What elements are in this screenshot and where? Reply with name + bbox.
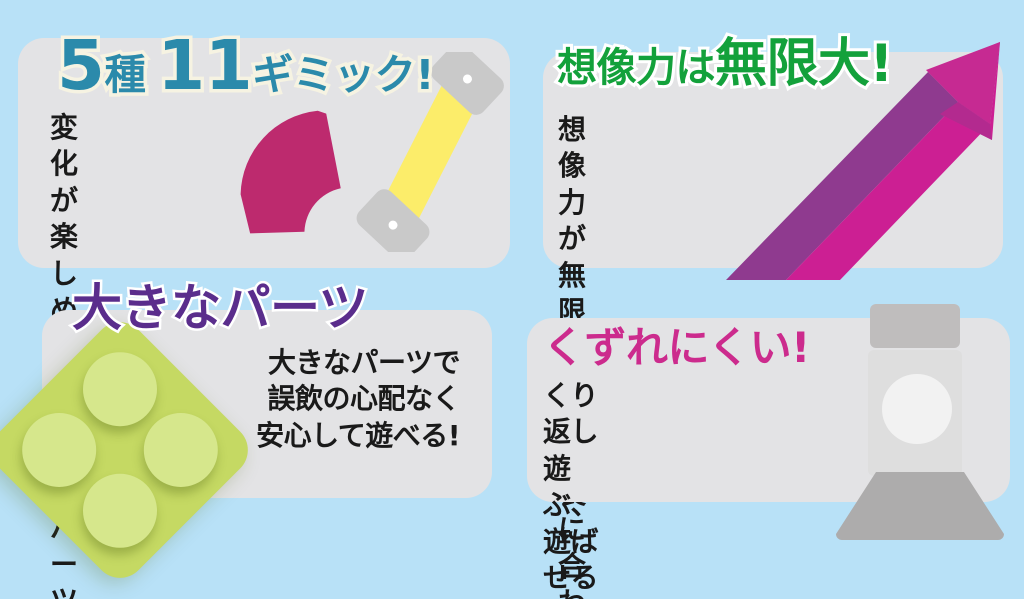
heading-count-gimmick: 11 bbox=[157, 26, 252, 106]
heading-kanji-kinds: 種 bbox=[104, 51, 145, 99]
feature-poster: 5種11ギミック! 変化が楽しめる ギミックパーツ がいっぱい! 想像力は無限大… bbox=[0, 0, 1024, 599]
panel-gimmick-heading: 5種11ギミック! bbox=[57, 32, 434, 101]
heading-label-gimmick: ギミック! bbox=[252, 51, 434, 99]
panel-sturdy-heading: くずれにくい! bbox=[543, 327, 810, 369]
panel-big-parts-heading: 大きなパーツ bbox=[72, 283, 368, 333]
heading-lead: 大きなパーツ bbox=[72, 279, 368, 337]
heading-count-kinds: 5 bbox=[57, 26, 104, 106]
panel-big-parts-body: 大きなパーツで 誤飲の心配なく 安心して遊べる! bbox=[190, 345, 460, 454]
block-top-cap bbox=[870, 304, 960, 348]
block-stud bbox=[882, 374, 952, 444]
block-base bbox=[830, 472, 1010, 542]
panel-sturdy-body: くり返し遊ぶ、遊ばせる ことで新たな発見や、 指先・脳を刺激! bbox=[543, 378, 598, 599]
panel-imagination-heading: 想像力は無限大! bbox=[557, 38, 893, 90]
heading-emphasis: 無限大! bbox=[715, 34, 893, 94]
stacked-block-icon bbox=[830, 302, 1010, 542]
heading-lead: くずれにくい! bbox=[543, 323, 810, 372]
heading-lead: 想像力は bbox=[557, 45, 715, 91]
